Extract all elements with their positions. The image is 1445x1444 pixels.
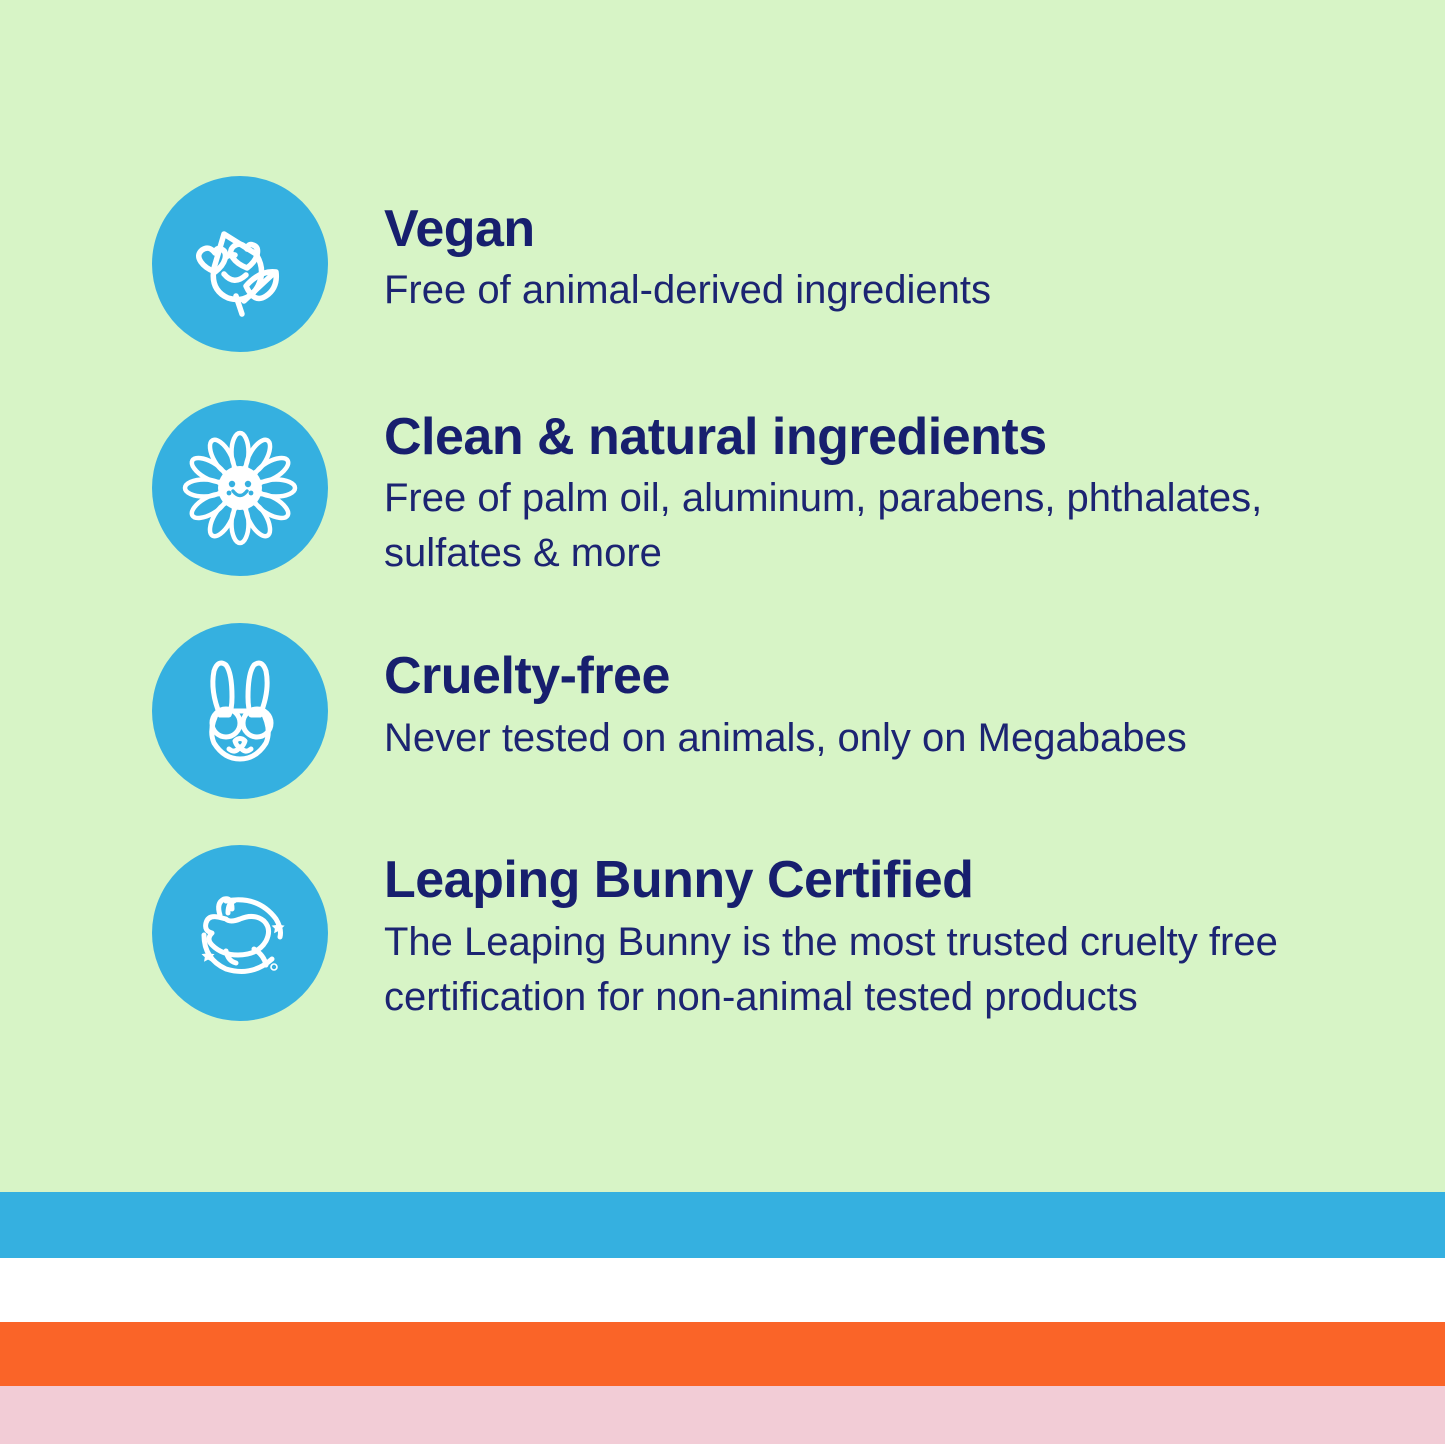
feature-description: Free of animal-derived ingredients xyxy=(384,263,1364,318)
feature-text-block: Vegan Free of animal-derived ingredients xyxy=(328,176,1364,318)
feature-title: Leaping Bunny Certified xyxy=(384,853,1364,908)
feature-title: Vegan xyxy=(384,202,1364,257)
feature-text-block: Leaping Bunny Certified The Leaping Bunn… xyxy=(328,845,1364,1024)
feature-description: Free of palm oil, aluminum, parabens, ph… xyxy=(384,471,1364,581)
orange-stripe xyxy=(0,1322,1445,1386)
benefits-green-panel: Vegan Free of animal-derived ingredients xyxy=(0,0,1445,1192)
feature-description: The Leaping Bunny is the most trusted cr… xyxy=(384,915,1364,1025)
smiling-daisy-flower-icon xyxy=(152,400,328,576)
feature-item-vegan: Vegan Free of animal-derived ingredients xyxy=(0,176,1445,352)
feature-list: Vegan Free of animal-derived ingredients xyxy=(0,0,1445,1025)
feature-text-block: Clean & natural ingredients Free of palm… xyxy=(328,400,1364,581)
product-benefits-panel: Vegan Free of animal-derived ingredients xyxy=(0,0,1445,1444)
feature-text-block: Cruelty-free Never tested on animals, on… xyxy=(328,623,1364,765)
sprout-with-heart-sunglasses-icon xyxy=(152,176,328,352)
white-stripe xyxy=(0,1258,1445,1322)
feature-item-leaping-bunny-certified: Leaping Bunny Certified The Leaping Bunn… xyxy=(0,845,1445,1024)
feature-title: Cruelty-free xyxy=(384,649,1364,704)
blue-stripe xyxy=(0,1192,1445,1258)
bunny-with-sunglasses-icon xyxy=(152,623,328,799)
feature-title: Clean & natural ingredients xyxy=(384,410,1364,465)
feature-description: Never tested on animals, only on Megabab… xyxy=(384,711,1364,766)
feature-item-clean-natural-ingredients: Clean & natural ingredients Free of palm… xyxy=(0,400,1445,581)
feature-item-cruelty-free: Cruelty-free Never tested on animals, on… xyxy=(0,623,1445,799)
pink-stripe xyxy=(0,1386,1445,1444)
leaping-bunny-logo-icon xyxy=(152,845,328,1021)
